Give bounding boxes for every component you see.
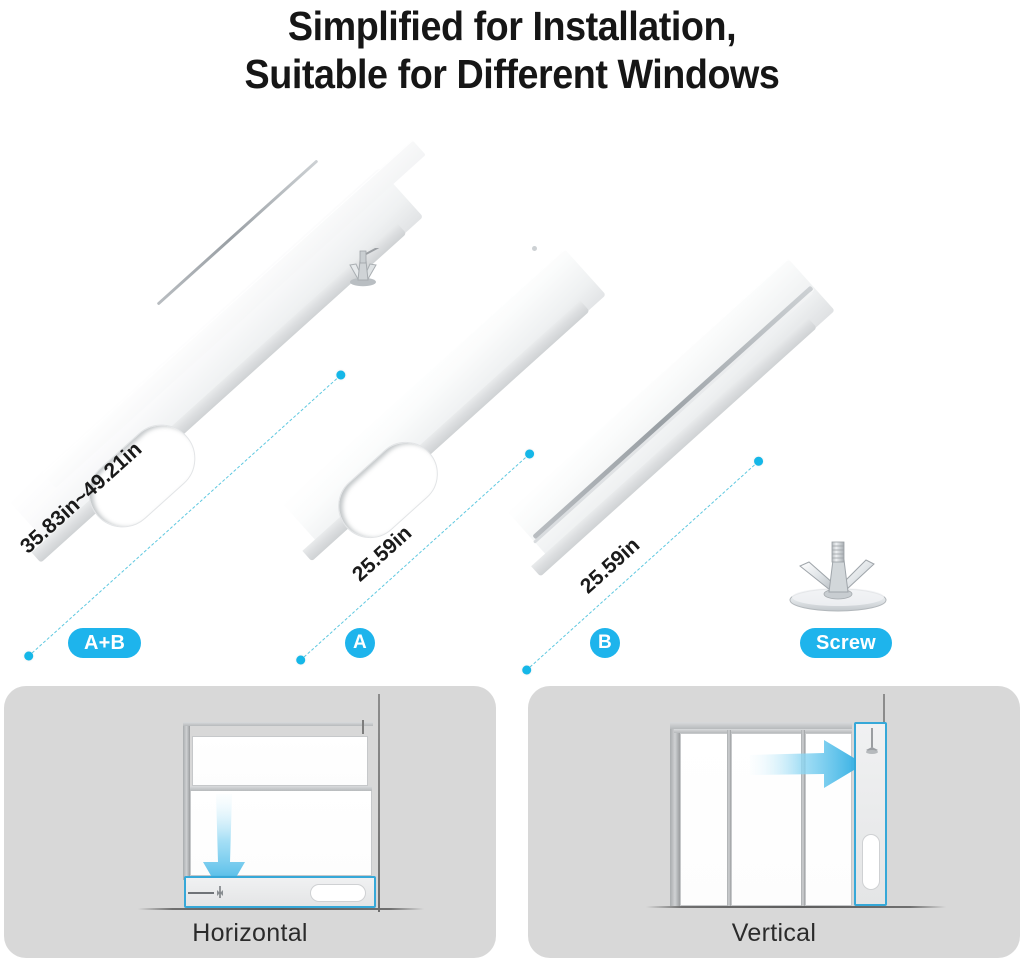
panel-width-tick	[188, 892, 214, 894]
door-mullion-1	[727, 730, 731, 906]
title-line-2: Suitable for Different Windows	[41, 50, 983, 98]
infographic-root: Simplified for Installation, Suitable fo…	[0, 0, 1024, 977]
window-upper-sash	[192, 736, 368, 786]
window-left-post	[183, 722, 190, 880]
wing-screw-icon	[778, 540, 898, 620]
parts-stage: 35.83in~49.21in 25.59in	[0, 108, 1024, 628]
wall-edge-line	[378, 694, 380, 912]
door-left-post	[670, 722, 680, 906]
page-title: Simplified for Installation, Suitable fo…	[0, 0, 1024, 98]
panel-b-rail-groove-inner	[533, 291, 813, 543]
window-head-tick	[362, 720, 364, 734]
floor-line	[138, 908, 424, 910]
window-head-rail	[183, 722, 373, 726]
screw-part	[778, 540, 898, 620]
scene-label-vertical: Vertical	[528, 919, 1020, 948]
badge-screw[interactable]: Screw	[800, 628, 892, 658]
floor-line	[646, 906, 946, 908]
installed-panel-vent	[862, 834, 880, 890]
insert-direction-arrow-right	[750, 736, 868, 794]
title-line-1: Simplified for Installation,	[41, 2, 983, 50]
scene-label-horizontal: Horizontal	[4, 919, 496, 948]
scene-horizontal: Horizontal	[4, 686, 496, 958]
installed-panel-screw-icon	[214, 884, 226, 902]
badge-panel-a[interactable]: A	[345, 628, 375, 658]
part-badges-row: A+B A B Screw	[0, 624, 1024, 672]
badge-panel-b[interactable]: B	[590, 628, 620, 658]
badge-panel-ab[interactable]: A+B	[68, 628, 141, 658]
installed-panel-screw-icon	[864, 728, 880, 758]
door-head-rail	[670, 722, 852, 729]
scene-vertical: Vertical	[528, 686, 1020, 958]
panel-b-rail-groove	[532, 286, 813, 540]
door-leaf-1	[680, 733, 729, 906]
installed-panel-vent	[310, 884, 366, 902]
